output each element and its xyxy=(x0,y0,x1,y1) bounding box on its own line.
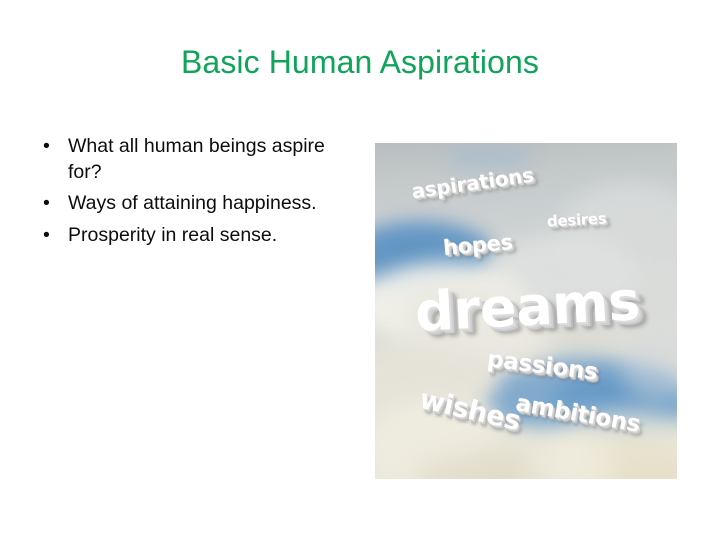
bullet-glyph-icon: • xyxy=(43,191,50,217)
list-item: • What all human beings aspire for? xyxy=(36,134,356,185)
bullet-glyph-icon: • xyxy=(43,134,50,160)
list-item-label: Prosperity in real sense. xyxy=(68,224,277,246)
dreams-word-cloud-image: aspirations desires hopes dreams passion… xyxy=(375,143,677,479)
list-item: • Ways of attaining happiness. xyxy=(36,191,356,217)
list-item-label: What all human beings aspire for? xyxy=(68,135,325,183)
bullet-list: • What all human beings aspire for? • Wa… xyxy=(36,134,356,255)
list-item-label: Ways of attaining happiness. xyxy=(68,192,317,214)
bullet-glyph-icon: • xyxy=(43,223,50,249)
slide-canvas: Basic Human Aspirations • What all human… xyxy=(0,0,720,540)
list-item: • Prosperity in real sense. xyxy=(36,223,356,249)
word-desires: desires xyxy=(547,209,607,230)
word-dreams: dreams xyxy=(414,269,642,344)
page-title: Basic Human Aspirations xyxy=(36,44,684,81)
